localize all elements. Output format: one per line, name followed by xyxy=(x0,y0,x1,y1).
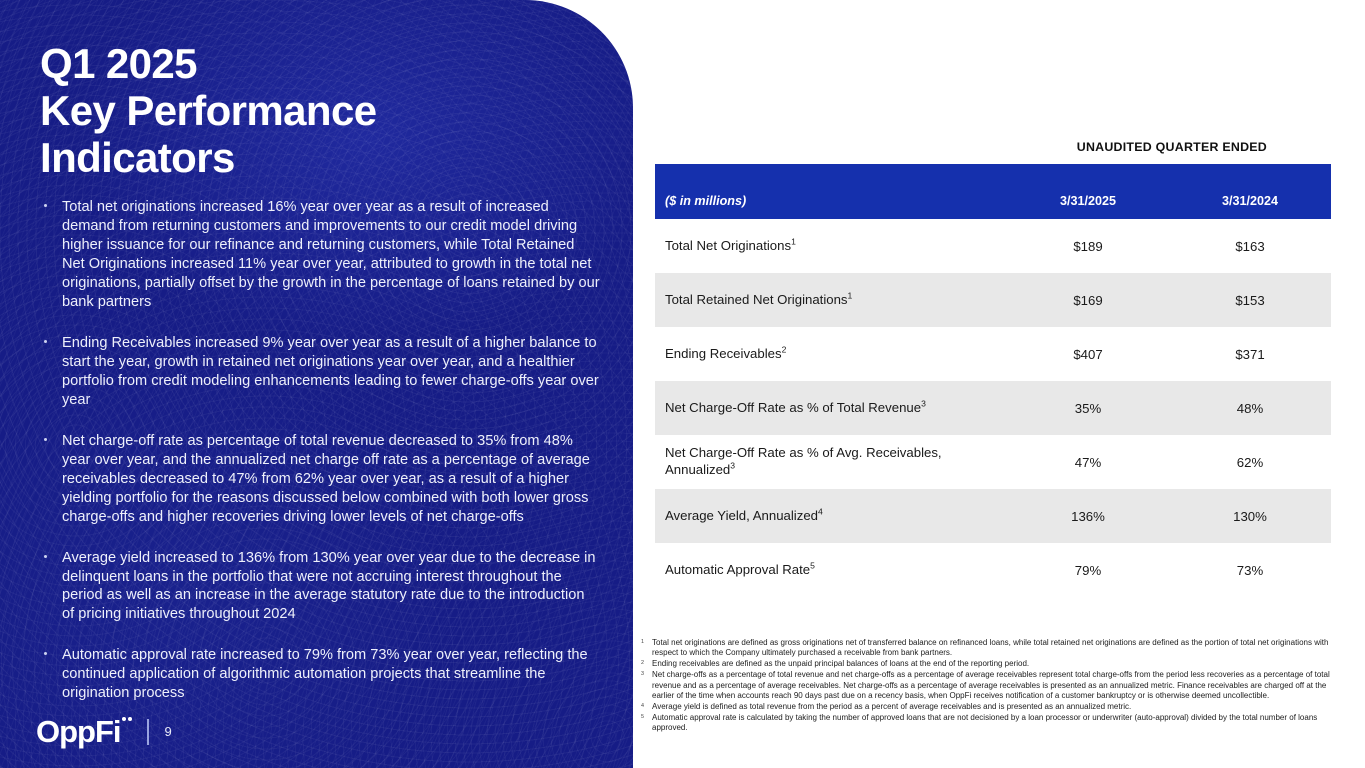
bullet-dot-icon xyxy=(44,438,47,441)
column-header-2025: 3/31/2025 xyxy=(1007,164,1169,219)
list-item: Automatic approval rate increased to 79%… xyxy=(40,646,600,703)
footnote-number: 3 xyxy=(641,671,644,678)
title-line-1: Q1 2025 xyxy=(40,40,600,87)
row-value-2025: 136% xyxy=(1007,489,1169,543)
list-item-text: Net charge-off rate as percentage of tot… xyxy=(62,433,590,525)
bullet-dot-icon xyxy=(44,555,47,558)
row-label-text: Automatic Approval Rate xyxy=(665,562,810,577)
row-value-2024: $153 xyxy=(1169,273,1331,327)
title-line-2: Key Performance xyxy=(40,87,600,134)
bullet-dot-icon xyxy=(44,204,47,207)
list-item-text: Automatic approval rate increased to 79%… xyxy=(62,647,588,701)
bullet-list: Total net originations increased 16% yea… xyxy=(40,198,600,725)
list-item: Ending Receivables increased 9% year ove… xyxy=(40,334,600,410)
table-row: Total Retained Net Originations1 $169 $1… xyxy=(655,273,1331,327)
row-label-text: Ending Receivables xyxy=(665,346,782,361)
footnote-item: 4 Average yield is defined as total reve… xyxy=(641,702,1335,712)
table-row: Net Charge-Off Rate as % of Avg. Receiva… xyxy=(655,435,1331,489)
row-label: Average Yield, Annualized4 xyxy=(655,489,1007,543)
row-value-2024: 62% xyxy=(1169,435,1331,489)
footnote-item: 1 Total net originations are defined as … xyxy=(641,638,1335,659)
row-value-2025: $407 xyxy=(1007,327,1169,381)
row-label: Total Net Originations1 xyxy=(655,219,1007,273)
bullet-dot-icon xyxy=(44,340,47,343)
list-item: Average yield increased to 136% from 130… xyxy=(40,549,600,625)
row-value-2024: 73% xyxy=(1169,543,1331,597)
bullet-dot-icon xyxy=(44,652,47,655)
footnote-marker: 4 xyxy=(818,506,823,516)
footnotes-section: 1 Total net originations are defined as … xyxy=(641,638,1335,734)
logo-dots-icon xyxy=(122,717,132,722)
footer-logo-area: OppFi 9 xyxy=(36,716,172,747)
footnote-number: 1 xyxy=(641,639,644,646)
footnote-text: Net charge-offs as a percentage of total… xyxy=(652,670,1330,700)
footnote-text: Total net originations are defined as gr… xyxy=(652,638,1328,657)
footnote-text: Average yield is defined as total revenu… xyxy=(652,702,1131,711)
table-row: Total Net Originations1 $189 $163 xyxy=(655,219,1331,273)
row-label-text: Net Charge-Off Rate as % of Avg. Receiva… xyxy=(665,445,942,477)
row-value-2024: 48% xyxy=(1169,381,1331,435)
row-label: Total Retained Net Originations1 xyxy=(655,273,1007,327)
oppfi-logo: OppFi xyxy=(36,716,121,747)
page-title: Q1 2025 Key Performance Indicators xyxy=(40,40,600,181)
list-item-text: Total net originations increased 16% yea… xyxy=(62,199,600,310)
page-number: 9 xyxy=(165,724,172,739)
row-label-text: Total Retained Net Originations xyxy=(665,292,848,307)
list-item: Total net originations increased 16% yea… xyxy=(40,198,600,312)
logo-divider xyxy=(147,719,149,745)
logo-text: OppFi xyxy=(36,714,121,749)
footnote-number: 4 xyxy=(641,703,644,710)
footnote-marker: 3 xyxy=(730,461,735,471)
list-item-text: Average yield increased to 136% from 130… xyxy=(62,550,596,623)
row-value-2024: 130% xyxy=(1169,489,1331,543)
title-line-3: Indicators xyxy=(40,134,600,181)
footnote-text: Automatic approval rate is calculated by… xyxy=(652,713,1317,732)
row-value-2025: $189 xyxy=(1007,219,1169,273)
column-header-2024: 3/31/2024 xyxy=(1169,164,1331,219)
table-supertitle: UNAUDITED QUARTER ENDED xyxy=(655,140,1331,154)
list-item-text: Ending Receivables increased 9% year ove… xyxy=(62,335,599,408)
footnote-marker: 1 xyxy=(791,236,796,246)
column-header-label: ($ in millions) xyxy=(655,164,1007,219)
kpi-table: ($ in millions) 3/31/2025 3/31/2024 Tota… xyxy=(655,164,1331,597)
title-panel: Q1 2025 Key Performance Indicators Total… xyxy=(0,0,633,768)
table-row: Net Charge-Off Rate as % of Total Revenu… xyxy=(655,381,1331,435)
table-row: Ending Receivables2 $407 $371 xyxy=(655,327,1331,381)
row-value-2025: 79% xyxy=(1007,543,1169,597)
row-value-2025: 47% xyxy=(1007,435,1169,489)
row-label: Ending Receivables2 xyxy=(655,327,1007,381)
footnote-marker: 1 xyxy=(848,290,853,300)
table-header-row: ($ in millions) 3/31/2025 3/31/2024 xyxy=(655,164,1331,219)
row-value-2024: $371 xyxy=(1169,327,1331,381)
table-row: Average Yield, Annualized4 136% 130% xyxy=(655,489,1331,543)
footnote-item: 5 Automatic approval rate is calculated … xyxy=(641,713,1335,734)
row-label: Automatic Approval Rate5 xyxy=(655,543,1007,597)
row-label-text: Total Net Originations xyxy=(665,238,791,253)
kpi-table-section: UNAUDITED QUARTER ENDED ($ in millions) … xyxy=(655,140,1331,597)
row-value-2025: $169 xyxy=(1007,273,1169,327)
footnote-number: 5 xyxy=(641,714,644,721)
table-row: Automatic Approval Rate5 79% 73% xyxy=(655,543,1331,597)
table-header: ($ in millions) 3/31/2025 3/31/2024 xyxy=(655,164,1331,219)
row-label-text: Average Yield, Annualized xyxy=(665,508,818,523)
footnote-text: Ending receivables are defined as the un… xyxy=(652,659,1029,668)
footnote-item: 2 Ending receivables are defined as the … xyxy=(641,659,1335,669)
footnote-marker: 5 xyxy=(810,560,815,570)
row-value-2025: 35% xyxy=(1007,381,1169,435)
row-label: Net Charge-Off Rate as % of Avg. Receiva… xyxy=(655,435,1007,489)
footnote-marker: 3 xyxy=(921,398,926,408)
table-body: Total Net Originations1 $189 $163 Total … xyxy=(655,219,1331,597)
list-item: Net charge-off rate as percentage of tot… xyxy=(40,432,600,527)
row-label-text: Net Charge-Off Rate as % of Total Revenu… xyxy=(665,400,921,415)
footnote-number: 2 xyxy=(641,660,644,667)
row-value-2024: $163 xyxy=(1169,219,1331,273)
footnote-marker: 2 xyxy=(782,344,787,354)
footnote-item: 3 Net charge-offs as a percentage of tot… xyxy=(641,670,1335,701)
row-label: Net Charge-Off Rate as % of Total Revenu… xyxy=(655,381,1007,435)
